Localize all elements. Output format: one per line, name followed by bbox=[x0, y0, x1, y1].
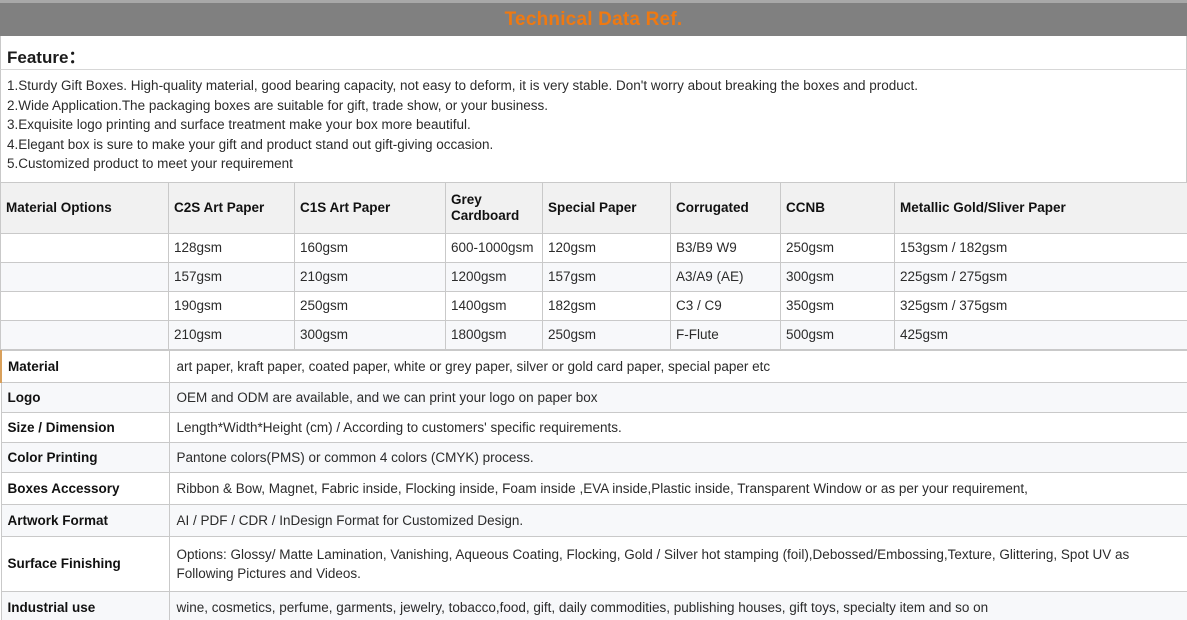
spec-label: Surface Finishing bbox=[1, 536, 169, 591]
spec-row-color-printing: Color Printing Pantone colors(PMS) or co… bbox=[1, 442, 1187, 472]
spec-row-logo: Logo OEM and ODM are available, and we c… bbox=[1, 382, 1187, 412]
column-header-corrugated: Corrugated bbox=[671, 182, 781, 233]
spec-value: Options: Glossy/ Matte Lamination, Vanis… bbox=[169, 536, 1187, 591]
feature-line: 4.Elegant box is sure to make your gift … bbox=[7, 135, 1180, 155]
feature-line: 5.Customized product to meet your requir… bbox=[7, 154, 1180, 174]
table-row: 128gsm 160gsm 600-1000gsm 120gsm B3/B9 W… bbox=[1, 233, 1187, 262]
cell-metallic: 153gsm / 182gsm bbox=[895, 233, 1187, 262]
spec-label: Boxes Accessory bbox=[1, 472, 169, 504]
spec-label: Logo bbox=[1, 382, 169, 412]
cell-c1s: 160gsm bbox=[295, 233, 446, 262]
cell-special: 182gsm bbox=[543, 291, 671, 320]
cell-special: 157gsm bbox=[543, 262, 671, 291]
material-options-table: Material Options C2S Art Paper C1S Art P… bbox=[0, 182, 1187, 350]
spec-value: Pantone colors(PMS) or common 4 colors (… bbox=[169, 442, 1187, 472]
spec-value: art paper, kraft paper, coated paper, wh… bbox=[169, 350, 1187, 382]
cell-blank bbox=[1, 320, 169, 349]
cell-c2s: 128gsm bbox=[169, 233, 295, 262]
page-title: Technical Data Ref. bbox=[505, 10, 683, 29]
cell-grey: 1800gsm bbox=[446, 320, 543, 349]
spec-row-surface-finishing: Surface Finishing Options: Glossy/ Matte… bbox=[1, 536, 1187, 591]
spec-value: wine, cosmetics, perfume, garments, jewe… bbox=[169, 591, 1187, 620]
column-header-special-paper: Special Paper bbox=[543, 182, 671, 233]
cell-corrugated: A3/A9 (AE) bbox=[671, 262, 781, 291]
cell-ccnb: 300gsm bbox=[781, 262, 895, 291]
title-bar: Technical Data Ref. bbox=[0, 0, 1187, 36]
cell-c2s: 210gsm bbox=[169, 320, 295, 349]
cell-c1s: 250gsm bbox=[295, 291, 446, 320]
cell-metallic: 425gsm bbox=[895, 320, 1187, 349]
feature-line: 3.Exquisite logo printing and surface tr… bbox=[7, 115, 1180, 135]
cell-c1s: 210gsm bbox=[295, 262, 446, 291]
spec-value: OEM and ODM are available, and we can pr… bbox=[169, 382, 1187, 412]
table-row: 190gsm 250gsm 1400gsm 182gsm C3 / C9 350… bbox=[1, 291, 1187, 320]
cell-special: 250gsm bbox=[543, 320, 671, 349]
cell-grey: 1200gsm bbox=[446, 262, 543, 291]
column-header-metallic-paper: Metallic Gold/Sliver Paper bbox=[895, 182, 1187, 233]
cell-c2s: 157gsm bbox=[169, 262, 295, 291]
feature-list: 1.Sturdy Gift Boxes. High-quality materi… bbox=[0, 69, 1187, 182]
spec-row-industrial-use: Industrial use wine, cosmetics, perfume,… bbox=[1, 591, 1187, 620]
spec-row-size-dimension: Size / Dimension Length*Width*Height (cm… bbox=[1, 412, 1187, 442]
table-row: 210gsm 300gsm 1800gsm 250gsm F-Flute 500… bbox=[1, 320, 1187, 349]
column-header-ccnb: CCNB bbox=[781, 182, 895, 233]
feature-line: 1.Sturdy Gift Boxes. High-quality materi… bbox=[7, 76, 1180, 96]
column-header-c2s-art-paper: C2S Art Paper bbox=[169, 182, 295, 233]
spec-value: AI / PDF / CDR / InDesign Format for Cus… bbox=[169, 504, 1187, 536]
column-header-c1s-art-paper: C1S Art Paper bbox=[295, 182, 446, 233]
cell-blank bbox=[1, 291, 169, 320]
cell-metallic: 325gsm / 375gsm bbox=[895, 291, 1187, 320]
spec-label: Color Printing bbox=[1, 442, 169, 472]
feature-heading: Feature： bbox=[7, 48, 85, 67]
cell-corrugated: B3/B9 W9 bbox=[671, 233, 781, 262]
cell-ccnb: 500gsm bbox=[781, 320, 895, 349]
cell-grey: 600-1000gsm bbox=[446, 233, 543, 262]
cell-ccnb: 350gsm bbox=[781, 291, 895, 320]
table-header-row: Material Options C2S Art Paper C1S Art P… bbox=[1, 182, 1187, 233]
spec-value: Length*Width*Height (cm) / According to … bbox=[169, 412, 1187, 442]
spec-row-artwork-format: Artwork Format AI / PDF / CDR / InDesign… bbox=[1, 504, 1187, 536]
cell-blank bbox=[1, 262, 169, 291]
table-row: 157gsm 210gsm 1200gsm 157gsm A3/A9 (AE) … bbox=[1, 262, 1187, 291]
spec-row-boxes-accessory: Boxes Accessory Ribbon & Bow, Magnet, Fa… bbox=[1, 472, 1187, 504]
spec-label: Artwork Format bbox=[1, 504, 169, 536]
cell-corrugated: C3 / C9 bbox=[671, 291, 781, 320]
cell-corrugated: F-Flute bbox=[671, 320, 781, 349]
cell-blank bbox=[1, 233, 169, 262]
spec-label: Material bbox=[1, 350, 169, 382]
feature-line: 2.Wide Application.The packaging boxes a… bbox=[7, 96, 1180, 116]
specification-table: Material art paper, kraft paper, coated … bbox=[0, 350, 1187, 620]
cell-c1s: 300gsm bbox=[295, 320, 446, 349]
column-header-material-options: Material Options bbox=[1, 182, 169, 233]
cell-ccnb: 250gsm bbox=[781, 233, 895, 262]
column-header-grey-cardboard: Grey Cardboard bbox=[446, 182, 543, 233]
cell-metallic: 225gsm / 275gsm bbox=[895, 262, 1187, 291]
cell-special: 120gsm bbox=[543, 233, 671, 262]
spec-value: Ribbon & Bow, Magnet, Fabric inside, Flo… bbox=[169, 472, 1187, 504]
cell-c2s: 190gsm bbox=[169, 291, 295, 320]
spec-label: Industrial use bbox=[1, 591, 169, 620]
spec-row-material: Material art paper, kraft paper, coated … bbox=[1, 350, 1187, 382]
technical-data-page: Technical Data Ref. Feature： 1.Sturdy Gi… bbox=[0, 0, 1187, 620]
feature-heading-row: Feature： bbox=[0, 36, 1187, 69]
spec-label: Size / Dimension bbox=[1, 412, 169, 442]
cell-grey: 1400gsm bbox=[446, 291, 543, 320]
